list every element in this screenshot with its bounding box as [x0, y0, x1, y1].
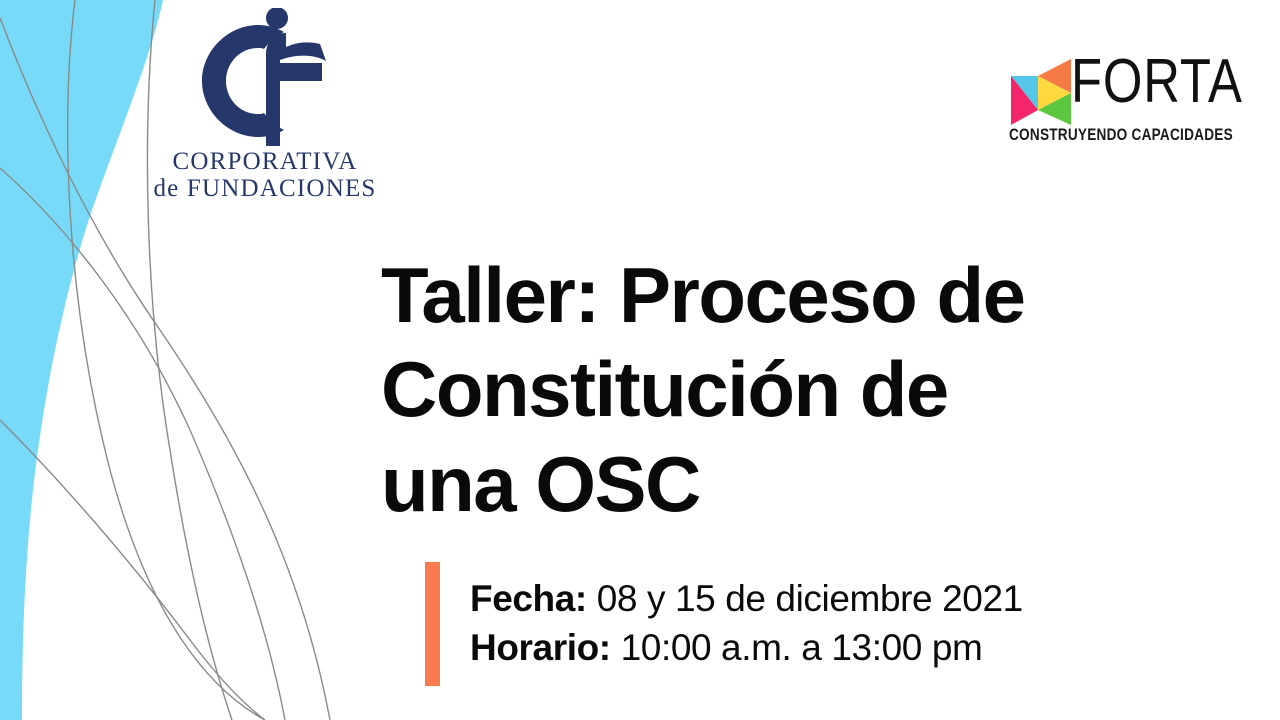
- forta-triangle-mosaic-icon: [1005, 57, 1071, 127]
- cif-wordmark: CORPORATIVA de FUNDACIONES: [150, 148, 380, 202]
- blue-curve-shape: [0, 0, 163, 720]
- detail-row-horario: Horario: 10:00 a.m. a 13:00 pm: [470, 624, 1023, 673]
- title-line-2: Constitución de: [381, 342, 1191, 436]
- event-flyer-slide: CORPORATIVA de FUNDACIONES FORTA CONSTRU…: [0, 0, 1280, 720]
- forta-wordmark: FORTA: [1071, 51, 1243, 113]
- cif-logo: CORPORATIVA de FUNDACIONES: [150, 8, 380, 208]
- title-line-3: una OSC: [381, 437, 1191, 531]
- detail-row-fecha: Fecha: 08 y 15 de diciembre 2021: [470, 575, 1023, 624]
- forta-logo: FORTA CONSTRUYENDO CAPACIDADES: [1005, 55, 1230, 150]
- detail-label-horario: Horario:: [470, 627, 611, 668]
- title-line-1: Taller: Proceso de: [381, 248, 1191, 342]
- event-details: Fecha: 08 y 15 de diciembre 2021 Horario…: [425, 562, 1023, 686]
- detail-value-horario: 10:00 a.m. a 13:00 pm: [611, 627, 983, 668]
- event-details-text: Fecha: 08 y 15 de diciembre 2021 Horario…: [470, 575, 1023, 673]
- page-title: Taller: Proceso de Constitución de una O…: [381, 248, 1191, 531]
- cif-wordmark-line2: de FUNDACIONES: [150, 175, 380, 202]
- cif-wordmark-line1: CORPORATIVA: [150, 148, 380, 175]
- detail-label-fecha: Fecha:: [470, 578, 587, 619]
- detail-value-fecha: 08 y 15 de diciembre 2021: [587, 578, 1023, 619]
- forta-tagline: CONSTRUYENDO CAPACIDADES: [1009, 125, 1233, 145]
- orange-accent-bar: [425, 562, 440, 686]
- cif-monogram-icon: [180, 8, 340, 148]
